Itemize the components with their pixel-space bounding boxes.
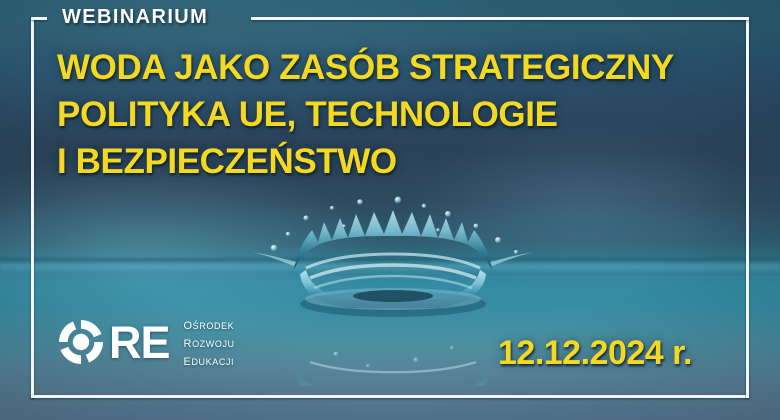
ore-subtitle-line-2: Rozwoju [184, 335, 235, 350]
ore-subtitle-line-1: Ośrodek [184, 317, 235, 332]
page-title: WODA JAKO ZASÓB STRATEGICZNY POLITYKA UE… [57, 44, 737, 185]
ore-circular-mark-icon [55, 316, 107, 368]
event-date: 12.12.2024 r. [498, 334, 692, 373]
ore-logo-subtitle: Ośrodek Rozwoju Edukacji [184, 316, 235, 368]
title-line-3: I BEZPIECZEŃSTWO [57, 138, 737, 185]
kicker-label: WEBINARIUM [62, 6, 208, 29]
ore-wordmark: RE [109, 320, 170, 365]
ore-subtitle-line-3: Edukacji [184, 353, 235, 368]
ore-logo-mark-row: RE [55, 316, 170, 368]
title-line-1: WODA JAKO ZASÓB STRATEGICZNY [57, 44, 737, 91]
ore-logo: RE Ośrodek Rozwoju Edukacji [55, 316, 235, 368]
webinar-banner: WEBINARIUM WODA JAKO ZASÓB STRATEGICZNY … [0, 0, 780, 420]
title-line-2: POLITYKA UE, TECHNOLOGIE [57, 91, 737, 138]
